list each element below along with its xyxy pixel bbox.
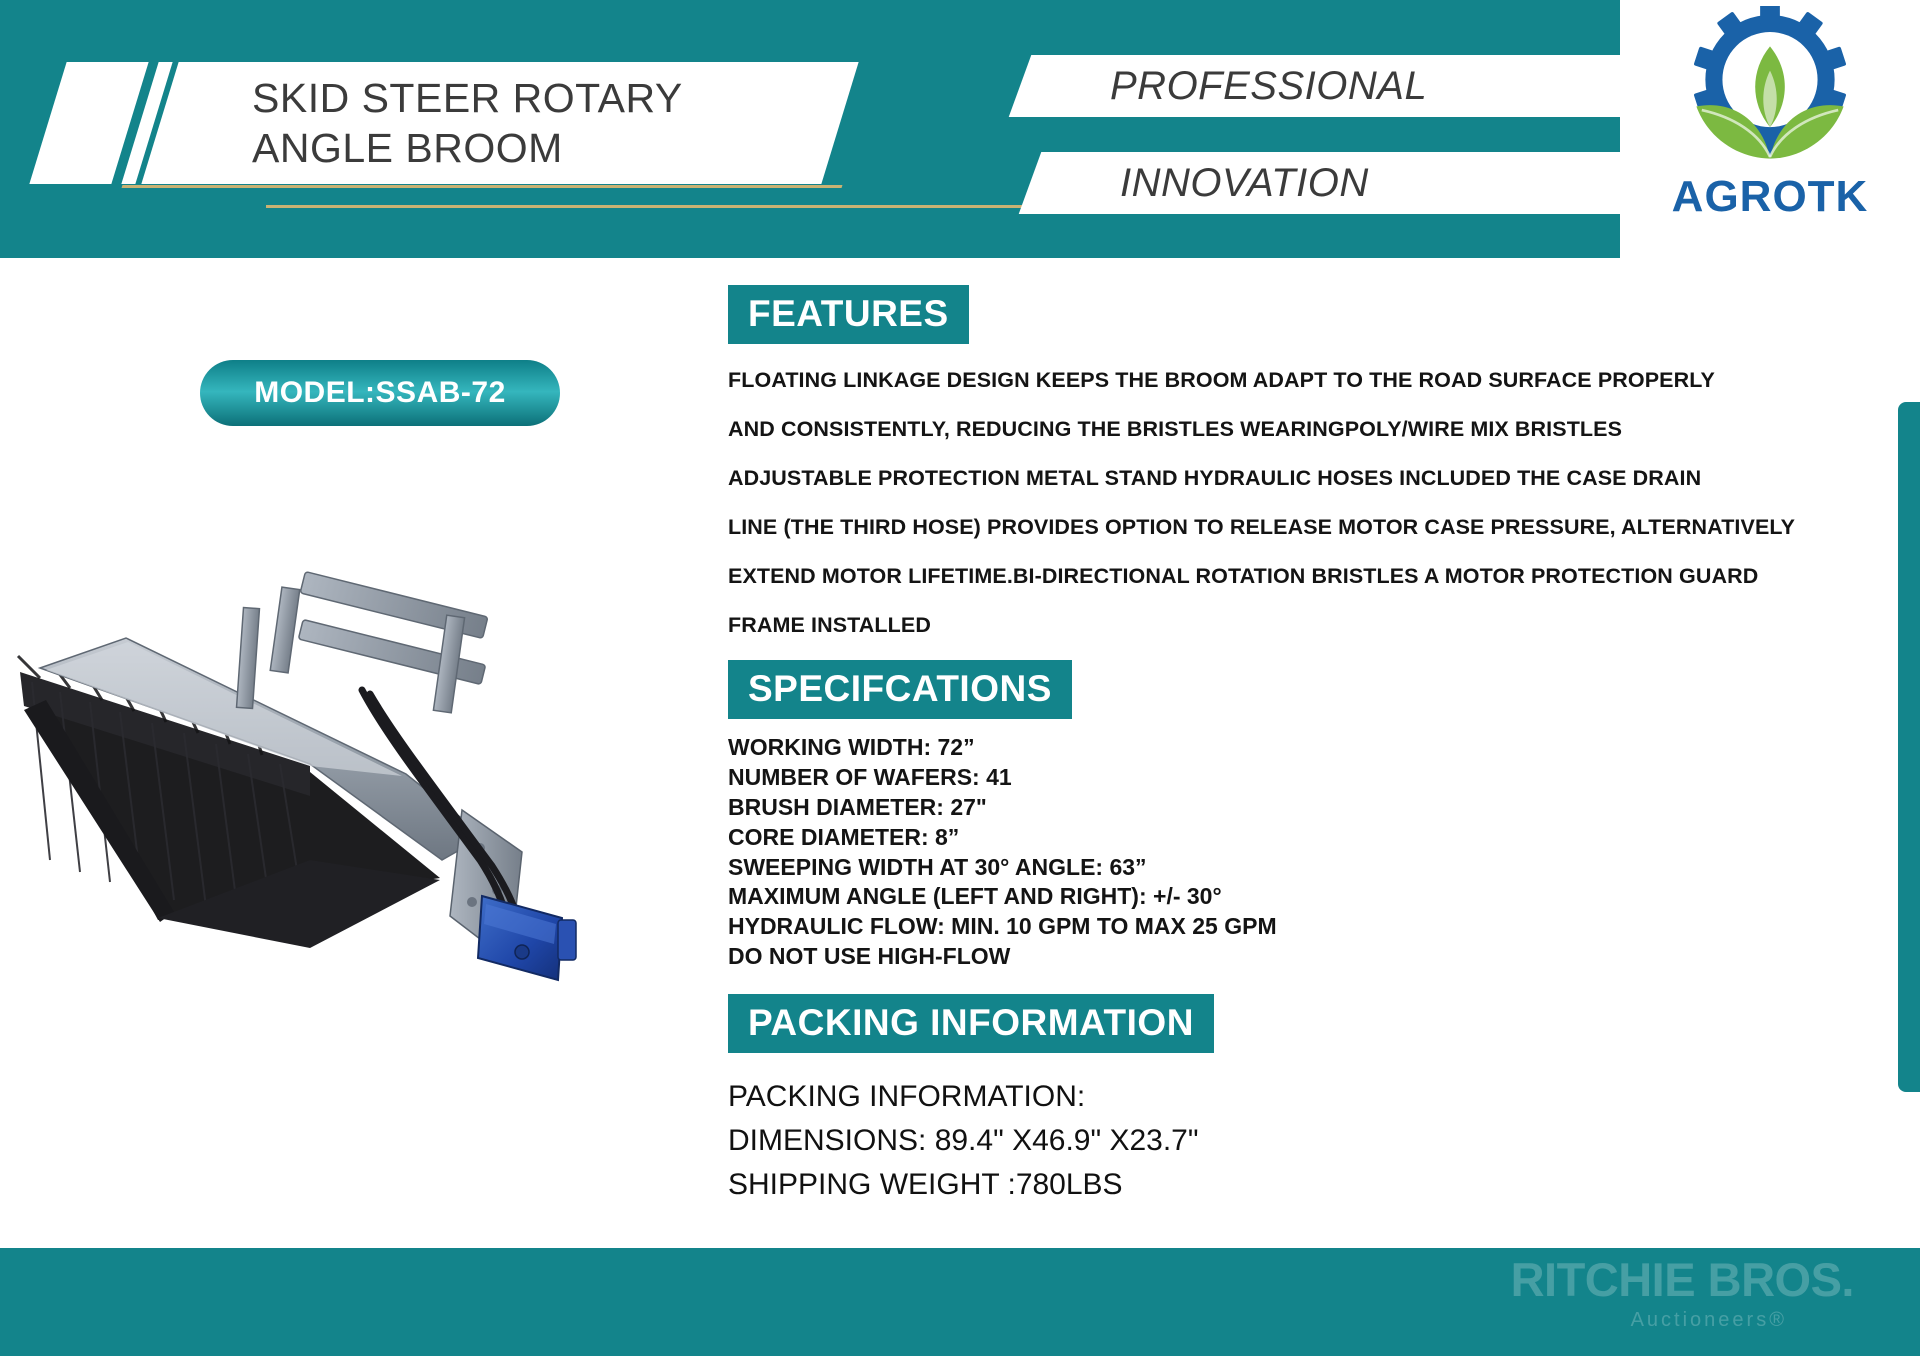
packing-body: PACKING INFORMATION: DIMENSIONS: 89.4" X…	[728, 1075, 1838, 1206]
brand-logo: AGROTK	[1630, 6, 1910, 256]
feature-line: EXTEND MOTOR LIFETIME.BI-DIRECTIONAL ROT…	[728, 564, 1838, 589]
tagline-professional: PROFESSIONAL	[1110, 55, 1730, 117]
feature-line: FRAME INSTALLED	[728, 613, 1838, 638]
specifications-heading: SPECIFCATIONS	[728, 660, 1072, 719]
spec-line: WORKING WIDTH: 72”	[728, 733, 1838, 763]
spec-line: HYDRAULIC FLOW: MIN. 10 GPM TO MAX 25 GP…	[728, 912, 1838, 942]
page-header: SKID STEER ROTARY ANGLE BROOM PROFESSION…	[0, 0, 1920, 258]
spec-line: BRUSH DIAMETER: 27"	[728, 793, 1838, 823]
decorative-gold-line-1	[122, 185, 843, 188]
spec-line: NUMBER OF WAFERS: 41	[728, 763, 1838, 793]
product-image	[10, 560, 690, 1010]
page-footer: RITCHIE BROS. Auctioneers®	[0, 1248, 1920, 1356]
title-line-1: SKID STEER ROTARY	[252, 73, 872, 123]
angle-broom-illustration	[10, 560, 690, 1010]
specifications-body: WORKING WIDTH: 72” NUMBER OF WAFERS: 41 …	[728, 733, 1838, 972]
packing-heading: PACKING INFORMATION	[728, 994, 1214, 1053]
features-heading: FEATURES	[728, 285, 969, 344]
title-line-2: ANGLE BROOM	[252, 123, 872, 173]
packing-line: DIMENSIONS: 89.4" X46.9" X23.7"	[728, 1119, 1838, 1163]
feature-line: FLOATING LINKAGE DESIGN KEEPS THE BROOM …	[728, 368, 1838, 393]
specifications-section: SPECIFCATIONS WORKING WIDTH: 72” NUMBER …	[728, 660, 1838, 972]
features-section: FEATURES FLOATING LINKAGE DESIGN KEEPS T…	[728, 285, 1838, 638]
feature-line: LINE (THE THIRD HOSE) PROVIDES OPTION TO…	[728, 515, 1838, 540]
watermark-main: RITCHIE BROS.	[1511, 1256, 1854, 1303]
side-accent-tab	[1898, 402, 1920, 1092]
hydraulic-motor	[478, 896, 576, 980]
watermark-sub: Auctioneers®	[1631, 1310, 1854, 1330]
packing-section: PACKING INFORMATION PACKING INFORMATION:…	[728, 994, 1838, 1206]
packing-line: SHIPPING WEIGHT :780LBS	[728, 1163, 1838, 1207]
model-badge: MODEL:SSAB-72	[200, 360, 560, 426]
specifications-heading-wrap: SPECIFCATIONS	[728, 660, 1838, 719]
packing-heading-wrap: PACKING INFORMATION	[728, 994, 1838, 1053]
spec-line: CORE DIAMETER: 8”	[728, 823, 1838, 853]
content-column: FEATURES FLOATING LINKAGE DESIGN KEEPS T…	[728, 285, 1838, 1207]
spec-line: MAXIMUM ANGLE (LEFT AND RIGHT): +/- 30°	[728, 882, 1838, 912]
spec-line: DO NOT USE HIGH-FLOW	[728, 942, 1838, 972]
feature-line: ADJUSTABLE PROTECTION METAL STAND HYDRAU…	[728, 466, 1838, 491]
tagline-innovation: INNOVATION	[1120, 152, 1800, 214]
spec-sheet-page: SKID STEER ROTARY ANGLE BROOM PROFESSION…	[0, 0, 1920, 1356]
packing-line: PACKING INFORMATION:	[728, 1075, 1838, 1119]
page-title: SKID STEER ROTARY ANGLE BROOM	[252, 62, 872, 184]
features-body: FLOATING LINKAGE DESIGN KEEPS THE BROOM …	[728, 368, 1838, 638]
feature-line: AND CONSISTENTLY, REDUCING THE BRISTLES …	[728, 417, 1838, 442]
watermark: RITCHIE BROS. Auctioneers®	[1511, 1256, 1854, 1330]
spec-line: SWEEPING WIDTH AT 30° ANGLE: 63”	[728, 853, 1838, 883]
